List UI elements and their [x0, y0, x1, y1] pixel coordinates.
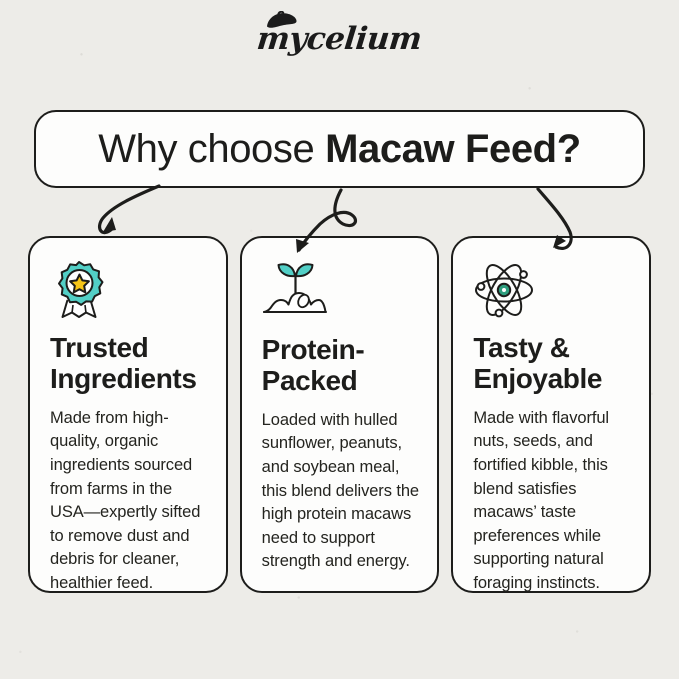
atom-icon — [473, 260, 535, 320]
infographic-root: mycelium Why choose Macaw Feed? — [0, 0, 679, 679]
card-3-title: Tasty & Enjoyable — [473, 332, 631, 395]
card-1-body: Made from high-quality, organic ingredie… — [50, 407, 208, 596]
headline-text: Why choose Macaw Feed? — [98, 127, 581, 172]
feature-card-list: Trusted Ingredients Made from high-quali… — [28, 236, 651, 593]
feature-card-trusted-ingredients[interactable]: Trusted Ingredients Made from high-quali… — [28, 236, 228, 593]
card-3-body: Made with flavorful nuts, seeds, and for… — [473, 407, 631, 596]
feature-card-protein-packed[interactable]: Protein- Packed Loaded with hulled sunfl… — [240, 236, 440, 593]
card-2-title: Protein- Packed — [262, 334, 420, 397]
brand-name: mycelium — [256, 24, 424, 55]
card-1-icon-slot — [50, 260, 208, 320]
brand-logo: mycelium — [0, 24, 679, 55]
card-3-icon-slot — [473, 260, 631, 320]
headline-regular-part: Why choose — [98, 127, 325, 171]
sprout-seedling-icon — [262, 260, 328, 318]
headline-bold-part: Macaw Feed? — [325, 127, 581, 171]
card-1-title: Trusted Ingredients — [50, 332, 208, 395]
headline-banner: Why choose Macaw Feed? — [34, 110, 645, 188]
card-2-body: Loaded with hulled sunflower, peanuts, a… — [262, 409, 420, 574]
award-rosette-icon — [50, 260, 108, 320]
feature-card-tasty-enjoyable[interactable]: Tasty & Enjoyable Made with flavorful nu… — [451, 236, 651, 593]
card-2-icon-slot — [262, 260, 420, 322]
arrow-to-card-1 — [100, 186, 159, 233]
